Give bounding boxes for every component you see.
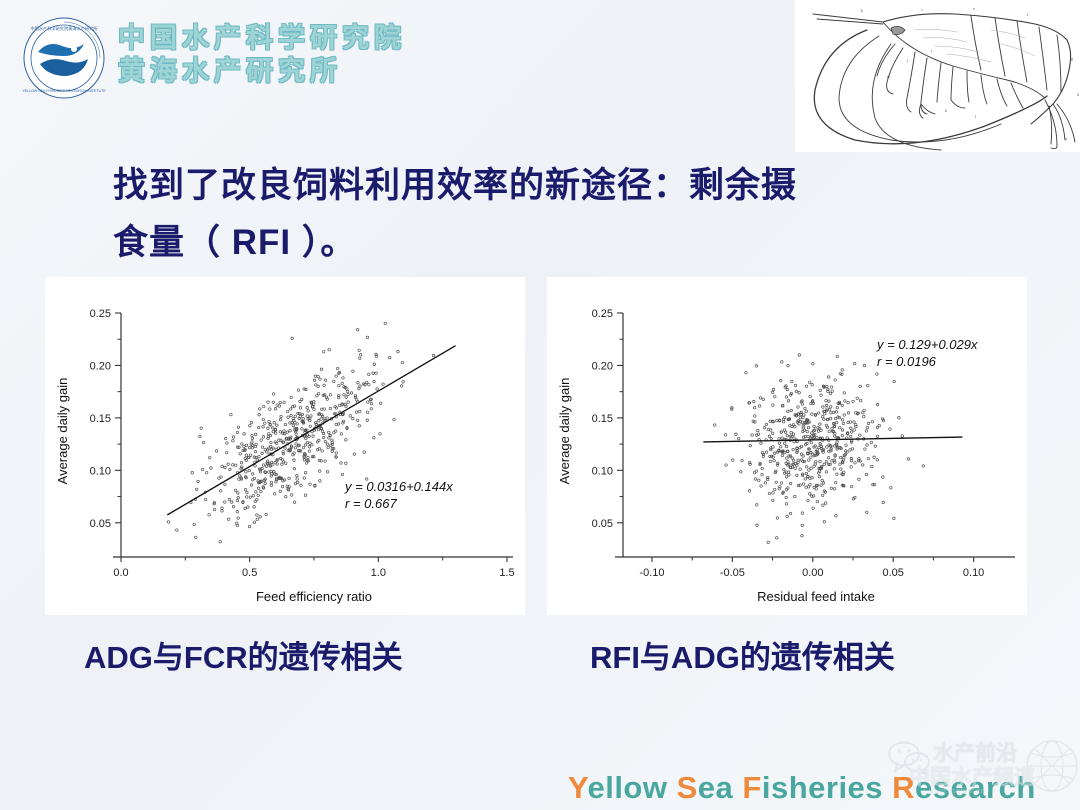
scatter-chart-rfi-vs-adg: 0.050.100.150.200.25-0.10-0.050.000.050.… <box>547 277 1027 615</box>
brand-part-4: F <box>742 770 761 805</box>
organization-name: 中国水产科学研究院 黄海水产研究所 <box>118 22 406 88</box>
y-axis-label: Average daily gain <box>55 378 70 485</box>
svg-text:-0.10: -0.10 <box>639 567 664 579</box>
svg-text:0.20: 0.20 <box>90 360 111 372</box>
svg-text:中国水产科学研究院黄海水产研究所: 中国水产科学研究院黄海水产研究所 <box>30 25 97 32</box>
svg-text:e: e <box>973 6 975 11</box>
title-line-2: 食量（ RFI ）。 <box>113 215 993 272</box>
watermark: 水产前沿 中国水产频道 www.fishfirst.cn <box>885 735 1080 810</box>
svg-text:m: m <box>887 74 891 79</box>
annotation-0: y = 0.0316+0.144x <box>344 479 453 494</box>
shrimp-line-drawing-icon: bc ef gh ni jk lm <box>795 0 1080 152</box>
org-line-2: 黄海水产研究所 <box>118 55 406 88</box>
svg-text:0.05: 0.05 <box>592 518 613 530</box>
chart-panel-rfi-vs-adg: 0.050.100.150.200.25-0.10-0.050.000.050.… <box>547 277 1027 615</box>
regression-line <box>703 437 962 442</box>
svg-text:0.05: 0.05 <box>90 518 111 530</box>
svg-text:b: b <box>861 8 863 13</box>
svg-text:h: h <box>1077 92 1079 97</box>
svg-text:0.25: 0.25 <box>90 308 111 320</box>
annotation-1: r = 0.667 <box>345 496 397 511</box>
annotation-0: y = 0.129+0.029x <box>876 337 978 352</box>
brand-part-0: Y <box>568 770 587 805</box>
svg-text:0.5: 0.5 <box>242 567 257 579</box>
svg-text:l: l <box>975 114 977 119</box>
svg-text:1.0: 1.0 <box>371 567 386 579</box>
caption-right: RFI与ADG的遗传相关 <box>590 632 895 677</box>
svg-text:c: c <box>921 7 923 12</box>
chart-panel-adg-vs-fcr: 0.050.100.150.200.250.00.51.01.5Feed eff… <box>45 277 525 615</box>
brand-part-2: S <box>677 770 698 805</box>
svg-text:-0.05: -0.05 <box>720 567 745 579</box>
svg-text:0.0: 0.0 <box>113 567 128 579</box>
slide-title: 找到了改良饲料利用效率的新途径：剩余摄 食量（ RFI ）。 <box>113 158 993 271</box>
yellow-sea-fisheries-circular-logo: 中国水产科学研究院黄海水产研究所 YELLOW SEA FISHERIES RE… <box>22 16 106 100</box>
svg-text:g: g <box>1071 56 1073 61</box>
svg-text:1.5: 1.5 <box>499 567 514 579</box>
caption-left: ADG与FCR的遗传相关 <box>84 632 403 677</box>
y-axis-label: Average daily gain <box>557 378 572 485</box>
svg-text:0.25: 0.25 <box>592 308 613 320</box>
svg-text:0.10: 0.10 <box>963 567 984 579</box>
svg-text:k: k <box>945 108 947 113</box>
brand-part-3: ea <box>698 770 743 805</box>
svg-text:j: j <box>906 58 908 63</box>
svg-text:i: i <box>931 48 933 53</box>
watermark-url: www.fishfirst.cn <box>929 788 985 795</box>
svg-text:0.10: 0.10 <box>592 465 613 477</box>
svg-text:n: n <box>1065 136 1067 141</box>
svg-text:0.15: 0.15 <box>90 413 111 425</box>
brand-part-1: ellow <box>587 770 676 805</box>
svg-text:0.20: 0.20 <box>592 360 613 372</box>
svg-text:0.05: 0.05 <box>882 567 903 579</box>
slide-header: 中国水产科学研究院黄海水产研究所 YELLOW SEA FISHERIES RE… <box>0 0 1080 120</box>
svg-text:f: f <box>1027 12 1029 17</box>
annotation-1: r = 0.0196 <box>877 354 937 369</box>
title-line-1: 找到了改良饲料利用效率的新途径：剩余摄 <box>113 166 797 205</box>
svg-text:0.00: 0.00 <box>802 567 823 579</box>
org-line-1: 中国水产科学研究院 <box>118 22 406 55</box>
scatter-chart-adg-vs-fcr: 0.050.100.150.200.250.00.51.01.5Feed eff… <box>45 277 525 615</box>
watermark-mid-text: 中国水产频道 <box>909 761 1035 791</box>
brand-part-5: isheries <box>762 770 892 805</box>
svg-text:0.10: 0.10 <box>90 465 111 477</box>
scatter-points <box>714 354 925 544</box>
x-axis-label: Residual feed intake <box>757 589 875 604</box>
svg-text:YELLOW SEA FISHERIES RESEARCH: YELLOW SEA FISHERIES RESEARCH INSTITUTE <box>22 89 106 93</box>
x-axis-label: Feed efficiency ratio <box>256 589 372 604</box>
svg-text:0.15: 0.15 <box>592 413 613 425</box>
